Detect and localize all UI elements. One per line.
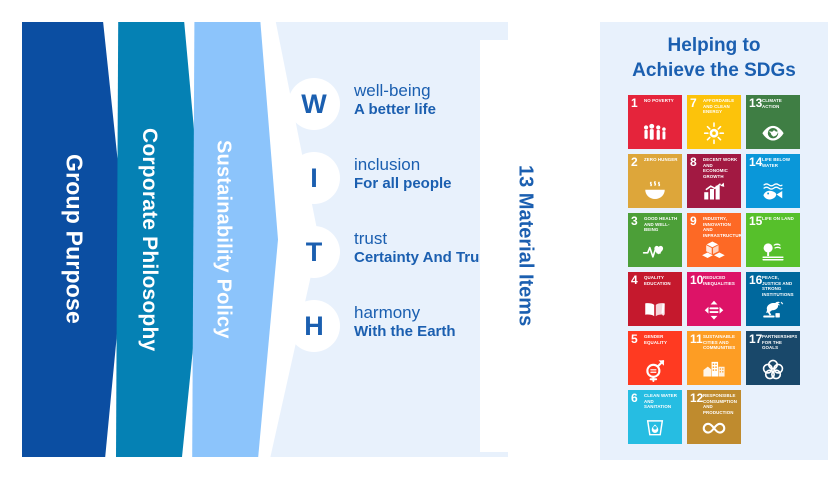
sdg-goal-10[interactable]: 10Reduced Inequalities — [687, 272, 741, 326]
material-items-label: 13 Material Items — [480, 40, 570, 452]
sdg-goal-number: 4 — [631, 274, 638, 286]
sdg-goal-16[interactable]: 16Peace, Justice and Strong Institutions — [746, 272, 800, 326]
sdg-goal-label: Clean Water and Sanitation — [644, 393, 680, 409]
sdg-goal-8[interactable]: 8Decent Work and Economic Growth — [687, 154, 741, 208]
growth-chart-icon — [687, 180, 741, 206]
with-item-h[interactable]: H harmony With the Earth — [288, 300, 498, 352]
with-item-w[interactable]: W well-being A better life — [288, 78, 498, 130]
with-item-title: well-being — [354, 81, 436, 101]
sdg-goal-label: No Poverty — [644, 98, 680, 103]
sdg-goal-3[interactable]: 3Good Health and Well-Being — [628, 213, 682, 267]
sdg-goal-number: 2 — [631, 156, 638, 168]
sdg-goal-number: 17 — [749, 333, 762, 345]
sdg-goal-number: 7 — [690, 97, 697, 109]
sdg-title-line-2: Achieve the SDGs — [600, 59, 828, 84]
sdg-goal-17[interactable]: 17Partnerships for the Goals — [746, 331, 800, 385]
with-item-text: inclusion For all people — [354, 152, 452, 194]
city-buildings-icon — [687, 357, 741, 383]
sdg-goal-label: Good Health and Well-Being — [644, 216, 680, 232]
sdg-goal-number: 16 — [749, 274, 762, 286]
sdg-goal-label: Gender Equality — [644, 334, 680, 345]
heartbeat-icon — [628, 239, 682, 265]
sdg-panel: Helping to Achieve the SDGs 1No Poverty7… — [600, 22, 828, 460]
sdg-goal-number: 13 — [749, 97, 762, 109]
sustainability-framework-diagram: Group Purpose Corporate Philosophy Susta… — [0, 0, 840, 480]
with-item-title: harmony — [354, 303, 456, 323]
fish-icon — [746, 180, 800, 206]
sdg-goal-5[interactable]: 5Gender Equality — [628, 331, 682, 385]
sdg-goal-grid: 1No Poverty7Affordable and Clean Energy1… — [628, 95, 800, 444]
sdg-goal-number: 12 — [690, 392, 703, 404]
sdg-goal-number: 11 — [690, 333, 703, 345]
with-letter-badge: W — [288, 78, 340, 130]
gender-equal-icon — [628, 357, 682, 383]
sdg-title-line-1: Helping to — [600, 34, 828, 59]
sdg-goal-number: 3 — [631, 215, 638, 227]
flow-band-label: Group Purpose — [22, 22, 126, 457]
sdg-panel-title: Helping to Achieve the SDGs — [600, 22, 828, 83]
with-item-text: trust Certainty And Trust — [354, 226, 493, 268]
sdg-goal-label: Quality Education — [644, 275, 680, 286]
eye-earth-icon — [746, 121, 800, 147]
with-item-title: inclusion — [354, 155, 452, 175]
sdg-goal-2[interactable]: 2Zero Hunger — [628, 154, 682, 208]
sdg-goal-label: Responsible Consumption and Production — [703, 393, 739, 415]
with-letter-badge: T — [288, 226, 340, 278]
with-values-list: W well-being A better life I inclusion F… — [288, 78, 498, 374]
tree-bird-icon — [746, 239, 800, 265]
sdg-goal-number: 15 — [749, 215, 762, 227]
sdg-goal-label: Reduced Inequalities — [703, 275, 739, 286]
sdg-goal-6[interactable]: 6Clean Water and Sanitation — [628, 390, 682, 444]
sdg-goal-1[interactable]: 1No Poverty — [628, 95, 682, 149]
equals-arrows-icon — [687, 298, 741, 324]
sdg-goal-label: Sustainable Cities and Communities — [703, 334, 739, 350]
sdg-goal-13[interactable]: 13Climate Action — [746, 95, 800, 149]
with-item-subtitle: A better life — [354, 101, 436, 119]
with-letter-badge: I — [288, 152, 340, 204]
water-glass-icon — [628, 416, 682, 442]
sdg-goal-15[interactable]: 15Life on Land — [746, 213, 800, 267]
sdg-goal-number: 8 — [690, 156, 697, 168]
cubes-icon — [687, 239, 741, 265]
sdg-goal-label: Partnerships for the Goals — [762, 334, 798, 350]
with-item-title: trust — [354, 229, 493, 249]
sdg-goal-label: Life Below Water — [762, 157, 798, 168]
sdg-goal-4[interactable]: 4Quality Education — [628, 272, 682, 326]
flow-band-group-purpose[interactable]: Group Purpose — [22, 22, 126, 457]
sdg-goal-11[interactable]: 11Sustainable Cities and Communities — [687, 331, 741, 385]
with-item-subtitle: Certainty And Trust — [354, 249, 493, 267]
sdg-goal-number: 10 — [690, 274, 703, 286]
sdg-goal-label: Peace, Justice and Strong Institutions — [762, 275, 798, 297]
sdg-goal-label: Decent Work and Economic Growth — [703, 157, 739, 179]
circles-ring-icon — [746, 357, 800, 383]
sdg-goal-label: Climate Action — [762, 98, 798, 109]
with-item-subtitle: With the Earth — [354, 323, 456, 341]
with-item-subtitle: For all people — [354, 175, 452, 193]
sdg-goal-number: 6 — [631, 392, 638, 404]
sdg-goal-number: 9 — [690, 215, 697, 227]
sdg-goal-number: 14 — [749, 156, 762, 168]
infinity-icon — [687, 416, 741, 442]
with-item-i[interactable]: I inclusion For all people — [288, 152, 498, 204]
bowl-icon — [628, 180, 682, 206]
with-item-text: harmony With the Earth — [354, 300, 456, 342]
sdg-goal-label: Affordable and Clean Energy — [703, 98, 739, 114]
with-letter-badge: H — [288, 300, 340, 352]
sdg-goal-12[interactable]: 12Responsible Consumption and Production — [687, 390, 741, 444]
sdg-goal-7[interactable]: 7Affordable and Clean Energy — [687, 95, 741, 149]
with-item-text: well-being A better life — [354, 78, 436, 120]
people-icon — [628, 121, 682, 147]
book-pencil-icon — [628, 298, 682, 324]
with-item-t[interactable]: T trust Certainty And Trust — [288, 226, 498, 278]
sdg-goal-14[interactable]: 14Life Below Water — [746, 154, 800, 208]
sdg-goal-number: 1 — [631, 97, 638, 109]
sdg-goal-9[interactable]: 9Industry, Innovation and Infrastructure — [687, 213, 741, 267]
dove-gavel-icon — [746, 298, 800, 324]
material-items-chevron[interactable]: 13 Material Items — [480, 40, 570, 452]
sdg-goal-label: Life on Land — [762, 216, 798, 221]
sun-icon — [687, 121, 741, 147]
sdg-goal-number: 5 — [631, 333, 638, 345]
sdg-goal-label: Industry, Innovation and Infrastructure — [703, 216, 739, 238]
sdg-goal-label: Zero Hunger — [644, 157, 680, 162]
